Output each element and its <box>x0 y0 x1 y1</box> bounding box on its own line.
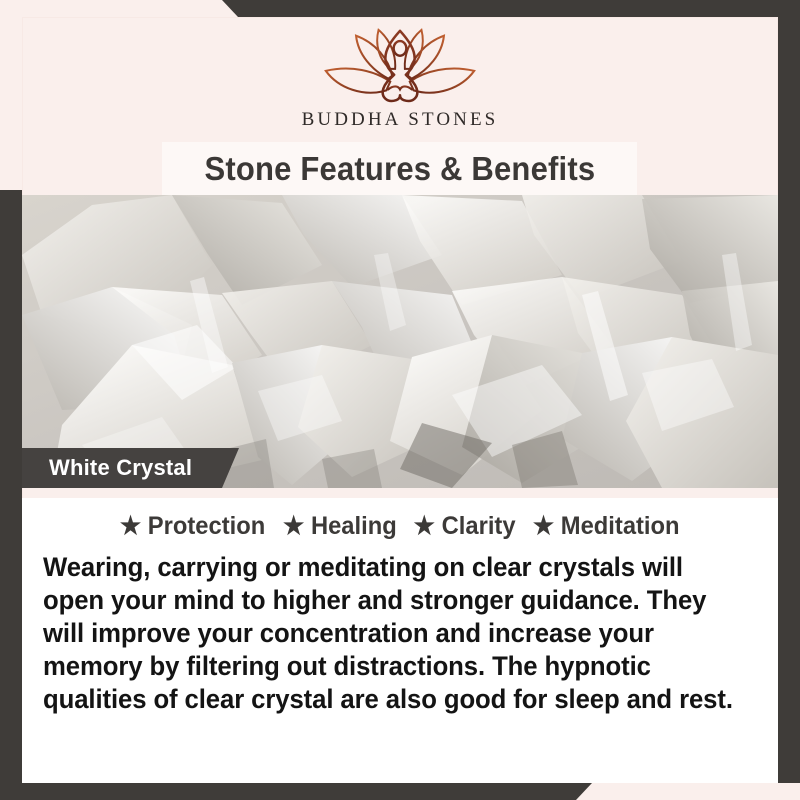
feature-label: Meditation <box>561 512 680 541</box>
star-icon: ★ <box>120 514 141 539</box>
feature-label: Protection <box>148 512 265 541</box>
frame-band-bottom <box>0 783 800 800</box>
brand-header: BUDDHA STONES <box>0 0 800 143</box>
feature-item: ★ Healing <box>283 512 397 541</box>
frame-band-left <box>0 190 22 783</box>
description-text: Wearing, carrying or meditating on clear… <box>43 551 737 716</box>
product-info-poster: BUDDHA STONES Stone Features & Benefits <box>0 0 800 800</box>
stone-name-label: White Crystal <box>49 455 192 481</box>
star-icon: ★ <box>414 514 435 539</box>
feature-label: Healing <box>311 512 397 541</box>
page-title: Stone Features & Benefits <box>204 150 595 188</box>
star-icon: ★ <box>533 514 554 539</box>
feature-label: Clarity <box>442 512 516 541</box>
white-crystal-cluster-photo <box>22 195 778 488</box>
lotus-meditation-figure-icon <box>315 24 485 106</box>
brand-name: BUDDHA STONES <box>302 109 499 131</box>
feature-item: ★ Meditation <box>533 512 680 541</box>
star-icon: ★ <box>283 514 304 539</box>
feature-item: ★ Clarity <box>414 512 516 541</box>
feature-list: ★ Protection ★ Healing ★ Clarity ★ Medit… <box>22 512 778 541</box>
content-panel: ★ Protection ★ Healing ★ Clarity ★ Medit… <box>22 498 778 783</box>
feature-item: ★ Protection <box>120 512 265 541</box>
title-banner: Stone Features & Benefits <box>163 143 636 195</box>
status-badge: White Crystal <box>22 448 239 488</box>
